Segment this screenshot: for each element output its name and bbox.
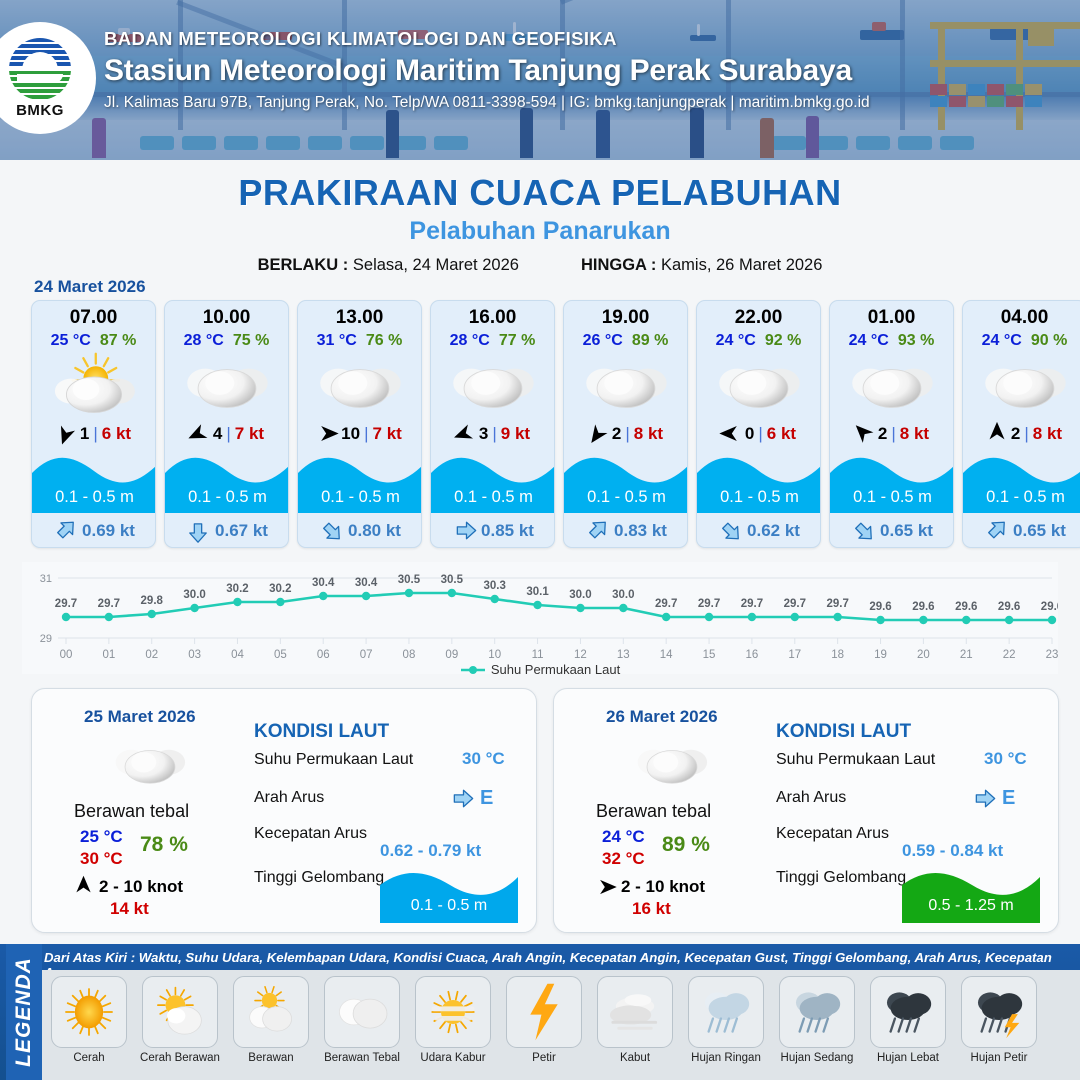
validity-row: BERLAKU : Selasa, 24 Maret 2026 HINGGA :… — [0, 256, 1080, 275]
legend-item-label: Petir — [532, 1052, 556, 1064]
panel-current-speed-value: 0.59 - 0.84 kt — [902, 841, 1003, 861]
svg-text:30.0: 30.0 — [183, 589, 205, 601]
svg-text:13: 13 — [617, 649, 630, 661]
card-weather-icon — [564, 353, 687, 415]
card-weather-icon — [431, 353, 554, 415]
svg-text:16: 16 — [746, 649, 759, 661]
svg-text:11: 11 — [532, 649, 544, 661]
card-current: 0.85 kt — [431, 517, 555, 544]
card-humidity: 89 % — [632, 332, 668, 350]
cloud-sun-icon — [233, 976, 309, 1048]
svg-text:12: 12 — [574, 649, 587, 661]
card-time: 04.00 — [963, 307, 1080, 329]
lightning-icon — [506, 976, 582, 1048]
sst-chart: 312929.70029.70129.80230.00330.20430.205… — [22, 562, 1058, 674]
card-time: 22.00 — [697, 307, 820, 329]
card-wind: 2 | 8 kt — [830, 421, 953, 446]
card-humidity: 90 % — [1031, 332, 1067, 350]
wind-direction-arrow — [74, 875, 93, 899]
panel-wind-range: 2 - 10 knot — [99, 877, 183, 897]
station-name: Stasiun Meteorologi Maritim Tanjung Pera… — [104, 54, 870, 88]
card-current: 0.69 kt — [32, 517, 156, 544]
panel-condition: Berawan tebal — [74, 801, 189, 822]
sst-chart-svg: 312929.70029.70129.80230.00330.20430.205… — [22, 562, 1058, 674]
panel-wind-range: 2 - 10 knot — [621, 877, 705, 897]
card-wind-degree: 10 — [341, 424, 360, 444]
current-direction-arrow — [970, 788, 997, 810]
valid-until: HINGGA : Kamis, 26 Maret 2026 — [581, 256, 822, 275]
card-wind-separator: | — [891, 424, 895, 444]
svg-text:05: 05 — [274, 649, 287, 661]
panel-date: 25 Maret 2026 — [84, 707, 196, 727]
panel-current-dir-label: Arah Arus — [254, 789, 324, 807]
hourly-card: 16.00 28 °C 77 % 3 | 9 kt 0.1 - 0.5 m — [430, 300, 555, 548]
panel-wave-value: 0.5 - 1.25 m — [902, 897, 1040, 915]
svg-text:30.3: 30.3 — [484, 580, 506, 592]
legend-side-title-text: LEGENDA — [12, 957, 36, 1067]
legend-item: Petir — [501, 976, 587, 1064]
card-current-speed: 0.65 kt — [880, 521, 933, 541]
panel-humidity: 78 % — [140, 833, 188, 857]
card-wind: 2 | 8 kt — [564, 421, 687, 446]
fog-icon — [597, 976, 673, 1048]
card-wind-separator: | — [226, 424, 230, 444]
card-wind-speed: 8 kt — [1033, 424, 1062, 444]
card-temp-humidity: 28 °C 77 % — [431, 332, 554, 350]
panel-current-dir-value: E — [972, 785, 1015, 812]
card-wind: 2 | 8 kt — [963, 421, 1080, 446]
legend-item-label: Berawan Tebal — [324, 1052, 400, 1064]
cloud-icon — [324, 976, 400, 1048]
current-direction-arrow — [846, 513, 881, 548]
chart-legend: Suhu Permukaan Laut — [0, 662, 1080, 678]
hourly-card: 19.00 26 °C 89 % 2 | 8 kt 0.1 - 0.5 m — [563, 300, 688, 548]
sun-icon — [51, 976, 127, 1048]
legend-item: Cerah — [46, 976, 132, 1064]
svg-text:29.7: 29.7 — [98, 598, 120, 610]
svg-text:17: 17 — [788, 649, 801, 661]
card-wind-separator: | — [93, 424, 97, 444]
svg-text:21: 21 — [960, 649, 973, 661]
current-direction-arrow — [187, 517, 209, 544]
panel-current-dir-value: E — [450, 785, 493, 812]
card-humidity: 76 % — [366, 332, 402, 350]
svg-text:29.6: 29.6 — [1041, 601, 1058, 613]
card-humidity: 77 % — [499, 332, 535, 350]
current-direction-arrow — [451, 520, 478, 542]
svg-text:29.7: 29.7 — [698, 598, 720, 610]
weather-infographic: BMKG BADAN METEOROLOGI KLIMATOLOGI DAN G… — [0, 0, 1080, 1080]
card-wind: 10 | 7 kt — [298, 421, 421, 446]
legend-side-title: LEGENDA — [6, 944, 42, 1080]
panel-condition: Berawan tebal — [596, 801, 711, 822]
header-banner: BMKG BADAN METEOROLOGI KLIMATOLOGI DAN G… — [0, 0, 1080, 160]
hourly-card: 04.00 24 °C 90 % 2 | 8 kt 0.1 - 0.5 m — [962, 300, 1080, 548]
svg-text:31: 31 — [40, 573, 52, 585]
card-wind-speed: 8 kt — [900, 424, 929, 444]
legend-item: Hujan Ringan — [683, 976, 769, 1064]
card-wind: 0 | 6 kt — [697, 421, 820, 446]
svg-text:30.2: 30.2 — [269, 583, 291, 595]
card-current: 0.65 kt — [963, 517, 1080, 544]
wind-direction-arrow — [315, 424, 340, 444]
legend-item: Berawan — [228, 976, 314, 1064]
card-wave-height: 0.1 - 0.5 m — [431, 488, 555, 507]
card-time: 19.00 — [564, 307, 687, 329]
svg-text:29.7: 29.7 — [55, 598, 77, 610]
card-current-speed: 0.65 kt — [1013, 521, 1066, 541]
panel-wind: 2 - 10 knot — [596, 875, 705, 899]
legend-item-label: Cerah Berawan — [140, 1052, 220, 1064]
panel-current-speed-label: Kecepatan Arus — [776, 825, 889, 843]
hourly-card: 01.00 24 °C 93 % 2 | 8 kt 0.1 - 0.5 m — [829, 300, 954, 548]
legend-item-label: Hujan Sedang — [781, 1052, 854, 1064]
card-temp-humidity: 26 °C 89 % — [564, 332, 687, 350]
svg-text:06: 06 — [317, 649, 330, 661]
card-time: 01.00 — [830, 307, 953, 329]
card-temp-humidity: 25 °C 87 % — [32, 332, 155, 350]
svg-text:30.1: 30.1 — [526, 586, 549, 598]
thunderstorm-icon — [961, 976, 1037, 1048]
svg-text:22: 22 — [1003, 649, 1016, 661]
card-current: 0.62 kt — [697, 517, 821, 544]
svg-text:23: 23 — [1046, 649, 1058, 661]
wind-direction-arrow — [718, 424, 743, 444]
svg-text:15: 15 — [703, 649, 716, 661]
panel-weather-icon — [632, 737, 712, 789]
card-wave-height: 0.1 - 0.5 m — [963, 488, 1080, 507]
legend-item: Berawan Tebal — [319, 976, 405, 1064]
svg-text:30.0: 30.0 — [569, 589, 591, 601]
panel-temp-max: 32 °C — [602, 849, 645, 869]
valid-from-label: BERLAKU : — [258, 256, 349, 274]
card-wave-height: 0.1 - 0.5 m — [298, 488, 422, 507]
panel-humidity: 89 % — [662, 833, 710, 857]
panel-temp-min: 24 °C — [602, 827, 645, 847]
card-humidity: 75 % — [233, 332, 269, 350]
svg-text:29.7: 29.7 — [784, 598, 806, 610]
valid-from-value: Selasa, 24 Maret 2026 — [353, 256, 519, 274]
card-temp-humidity: 31 °C 76 % — [298, 332, 421, 350]
svg-text:29: 29 — [40, 633, 52, 645]
svg-text:30.2: 30.2 — [226, 583, 248, 595]
card-temp-humidity: 24 °C 93 % — [830, 332, 953, 350]
sun-cloud-icon — [142, 976, 218, 1048]
panel-current-speed-label: Kecepatan Arus — [254, 825, 367, 843]
card-temperature: 31 °C — [317, 332, 357, 350]
card-humidity: 87 % — [100, 332, 136, 350]
panel-weather-icon — [110, 737, 190, 789]
wind-direction-arrow — [450, 420, 480, 447]
panel-date: 26 Maret 2026 — [606, 707, 718, 727]
page-title: PRAKIRAAN CUACA PELABUHAN — [0, 172, 1080, 214]
card-time: 10.00 — [165, 307, 288, 329]
card-wind: 3 | 9 kt — [431, 421, 554, 446]
svg-text:29.6: 29.6 — [912, 601, 934, 613]
wind-direction-arrow — [52, 418, 79, 448]
chart-legend-label: Suhu Permukaan Laut — [491, 662, 620, 677]
panel-sst-value: 30 °C — [462, 749, 505, 769]
card-temperature: 24 °C — [982, 332, 1022, 350]
card-time: 13.00 — [298, 307, 421, 329]
port-name: Pelabuhan Panarukan — [0, 217, 1080, 246]
card-temp-humidity: 24 °C 92 % — [697, 332, 820, 350]
card-current-speed: 0.83 kt — [614, 521, 667, 541]
card-time: 16.00 — [431, 307, 554, 329]
current-direction-arrow — [314, 513, 349, 548]
panel-sst-label: Suhu Permukaan Laut — [776, 751, 935, 769]
wind-direction-arrow — [183, 419, 214, 448]
haze-icon — [415, 976, 491, 1048]
valid-until-value: Kamis, 26 Maret 2026 — [661, 256, 822, 274]
wind-direction-arrow — [594, 878, 618, 897]
legend-item: Udara Kabur — [410, 976, 496, 1064]
current-direction-arrow — [448, 788, 475, 810]
card-wind-degree: 2 — [878, 424, 887, 444]
card-temperature: 28 °C — [184, 332, 224, 350]
card-wind-degree: 3 — [479, 424, 488, 444]
panel-wave-label: Tinggi Gelombang — [254, 869, 384, 887]
legend-item-label: Kabut — [620, 1052, 650, 1064]
card-wind-separator: | — [625, 424, 629, 444]
card-wind-separator: | — [758, 424, 762, 444]
hourly-forecast-cards: 07.00 25 °C 87 % 1 | 6 kt — [31, 300, 1080, 548]
svg-text:30.5: 30.5 — [441, 574, 464, 586]
svg-text:29.6: 29.6 — [955, 601, 977, 613]
daily-forecast-panel: 26 Maret 2026 Berawan tebal 24 °C 32 °C … — [553, 688, 1059, 933]
legend-item: Hujan Lebat — [865, 976, 951, 1064]
card-wind-separator: | — [364, 424, 368, 444]
svg-text:29.6: 29.6 — [998, 601, 1020, 613]
card-wind: 1 | 6 kt — [32, 421, 155, 446]
card-wave-height: 0.1 - 0.5 m — [32, 488, 156, 507]
card-wind-degree: 2 — [1011, 424, 1020, 444]
valid-from: BERLAKU : Selasa, 24 Maret 2026 — [258, 256, 519, 275]
current-direction-arrow — [580, 513, 615, 548]
panel-gust: 14 kt — [110, 899, 149, 919]
card-humidity: 92 % — [765, 332, 801, 350]
card-current: 0.80 kt — [298, 517, 422, 544]
card-current-speed: 0.80 kt — [348, 521, 401, 541]
svg-text:10: 10 — [488, 649, 501, 661]
card-wind-speed: 7 kt — [373, 424, 402, 444]
legend-item: Hujan Petir — [956, 976, 1042, 1064]
svg-text:30.5: 30.5 — [398, 574, 421, 586]
card-wind: 4 | 7 kt — [165, 421, 288, 446]
current-direction-arrow — [713, 513, 748, 548]
card-wind-separator: | — [1024, 424, 1028, 444]
card-temperature: 24 °C — [849, 332, 889, 350]
svg-text:29.6: 29.6 — [869, 601, 891, 613]
card-current-speed: 0.62 kt — [747, 521, 800, 541]
svg-text:29.7: 29.7 — [655, 598, 677, 610]
card-wave-height: 0.1 - 0.5 m — [697, 488, 821, 507]
legend-item-label: Cerah — [73, 1052, 104, 1064]
card-wind-speed: 7 kt — [235, 424, 264, 444]
svg-text:29.8: 29.8 — [141, 595, 164, 607]
panel-wave-label: Tinggi Gelombang — [776, 869, 906, 887]
valid-until-label: HINGGA : — [581, 256, 656, 274]
current-direction-arrow — [48, 513, 83, 548]
card-wind-degree: 4 — [213, 424, 222, 444]
card-temperature: 26 °C — [583, 332, 623, 350]
legend-item: Hujan Sedang — [774, 976, 860, 1064]
card-temperature: 28 °C — [450, 332, 490, 350]
heavy-rain-icon — [870, 976, 946, 1048]
card-wind-speed: 9 kt — [501, 424, 530, 444]
hourly-card: 07.00 25 °C 87 % 1 | 6 kt — [31, 300, 156, 548]
bmkg-logo-text: BMKG — [16, 102, 64, 119]
legend-item-label: Hujan Ringan — [691, 1052, 761, 1064]
card-weather-icon — [830, 353, 953, 415]
panel-wind: 2 - 10 knot — [74, 875, 183, 899]
legend-item-label: Hujan Petir — [971, 1052, 1028, 1064]
svg-text:01: 01 — [102, 649, 115, 661]
legend-item-label: Berawan — [248, 1052, 293, 1064]
card-current-speed: 0.69 kt — [82, 521, 135, 541]
svg-text:19: 19 — [874, 649, 887, 661]
legend-items: Cerah Cerah Berawan Berawan Berawan Teba… — [42, 970, 1080, 1080]
contact-info: Jl. Kalimas Baru 97B, Tanjung Perak, No.… — [104, 94, 870, 112]
legend-item-label: Udara Kabur — [420, 1052, 485, 1064]
panel-sst-label: Suhu Permukaan Laut — [254, 751, 413, 769]
card-wave-height: 0.1 - 0.5 m — [564, 488, 688, 507]
card-wave-height: 0.1 - 0.5 m — [830, 488, 954, 507]
card-wind-degree: 0 — [745, 424, 754, 444]
legend-item: Kabut — [592, 976, 678, 1064]
svg-text:00: 00 — [60, 649, 73, 661]
svg-text:29.7: 29.7 — [741, 598, 763, 610]
panel-wave-value: 0.1 - 0.5 m — [380, 897, 518, 915]
bmkg-logo-icon — [9, 38, 71, 100]
panel-temp-min: 25 °C — [80, 827, 123, 847]
panel-current-speed-value: 0.62 - 0.79 kt — [380, 841, 481, 861]
svg-text:30.4: 30.4 — [312, 577, 335, 589]
card-wind-speed: 8 kt — [634, 424, 663, 444]
card-wind-speed: 6 kt — [767, 424, 796, 444]
legend-item-label: Hujan Lebat — [877, 1052, 939, 1064]
card-temperature: 24 °C — [716, 332, 756, 350]
card-weather-icon — [32, 353, 155, 415]
hourly-card: 10.00 28 °C 75 % 4 | 7 kt 0.1 - 0.5 m — [164, 300, 289, 548]
current-direction-arrow — [979, 513, 1014, 548]
svg-text:08: 08 — [403, 649, 416, 661]
svg-text:02: 02 — [145, 649, 158, 661]
svg-text:14: 14 — [660, 649, 673, 661]
card-weather-icon — [697, 353, 820, 415]
svg-text:07: 07 — [360, 649, 373, 661]
legend-item: Cerah Berawan — [137, 976, 223, 1064]
daily-forecast-panels: 25 Maret 2026 Berawan tebal 25 °C 30 °C … — [31, 688, 1059, 933]
wind-direction-arrow — [987, 421, 1007, 446]
chart-legend-marker — [460, 663, 486, 678]
card-temp-humidity: 28 °C 75 % — [165, 332, 288, 350]
svg-text:29.7: 29.7 — [826, 598, 848, 610]
light-rain-icon — [688, 976, 764, 1048]
card-wind-speed: 6 kt — [102, 424, 131, 444]
card-wind-degree: 1 — [80, 424, 89, 444]
svg-text:20: 20 — [917, 649, 930, 661]
hourly-card: 13.00 31 °C 76 % 10 | 7 kt 0.1 - 0.5 m — [297, 300, 422, 548]
daily-forecast-panel: 25 Maret 2026 Berawan tebal 25 °C 30 °C … — [31, 688, 537, 933]
panel-temp-max: 30 °C — [80, 849, 123, 869]
card-current-speed: 0.67 kt — [215, 521, 268, 541]
card-temp-humidity: 24 °C 90 % — [963, 332, 1080, 350]
svg-text:09: 09 — [445, 649, 458, 661]
svg-text:18: 18 — [831, 649, 844, 661]
card-wave-height: 0.1 - 0.5 m — [165, 488, 289, 507]
agency-name: BADAN METEOROLOGI KLIMATOLOGI DAN GEOFIS… — [104, 28, 870, 50]
header-text-block: BADAN METEOROLOGI KLIMATOLOGI DAN GEOFIS… — [104, 28, 870, 112]
wind-direction-arrow — [848, 418, 880, 450]
card-wind-separator: | — [492, 424, 496, 444]
card-wind-degree: 2 — [612, 424, 621, 444]
card-current: 0.83 kt — [564, 517, 688, 544]
card-weather-icon — [298, 353, 421, 415]
moderate-rain-icon — [779, 976, 855, 1048]
legend-section: LEGENDA Dari Atas Kiri : Waktu, Suhu Uda… — [0, 944, 1080, 1080]
card-humidity: 93 % — [898, 332, 934, 350]
card-current: 0.65 kt — [830, 517, 954, 544]
card-weather-icon — [963, 353, 1080, 415]
svg-text:03: 03 — [188, 649, 201, 661]
panel-current-dir-label: Arah Arus — [776, 789, 846, 807]
card-time: 07.00 — [32, 307, 155, 329]
svg-text:30.0: 30.0 — [612, 589, 634, 601]
title-block: PRAKIRAAN CUACA PELABUHAN Pelabuhan Pana… — [0, 160, 1080, 275]
day1-date: 24 Maret 2026 — [34, 277, 146, 297]
svg-text:04: 04 — [231, 649, 244, 661]
svg-text:30.4: 30.4 — [355, 577, 378, 589]
panel-gust: 16 kt — [632, 899, 671, 919]
card-current: 0.67 kt — [165, 517, 289, 544]
panel-sea-title: KONDISI LAUT — [254, 721, 389, 743]
panel-sst-value: 30 °C — [984, 749, 1027, 769]
card-current-speed: 0.85 kt — [481, 521, 534, 541]
card-weather-icon — [165, 353, 288, 415]
wind-direction-arrow — [583, 418, 614, 450]
card-temperature: 25 °C — [51, 332, 91, 350]
hourly-card: 22.00 24 °C 92 % 0 | 6 kt 0.1 - 0.5 m — [696, 300, 821, 548]
panel-sea-title: KONDISI LAUT — [776, 721, 911, 743]
